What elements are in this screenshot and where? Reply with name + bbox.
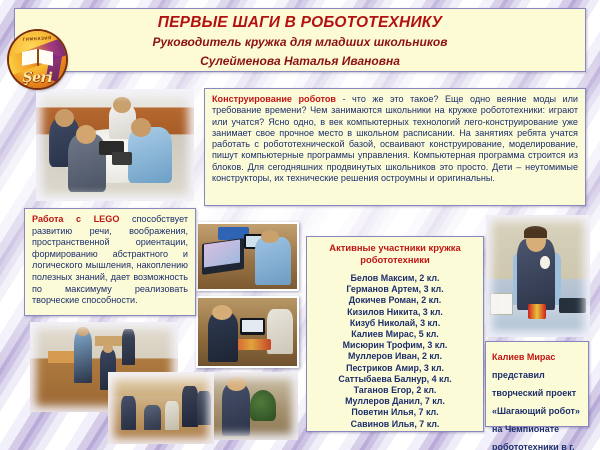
kaliev-note-panel: Калиев Мирас представил творческий проек… xyxy=(485,341,589,427)
photo-person-e xyxy=(197,391,211,426)
photo-person-1 xyxy=(74,331,92,383)
kaliev-name: Калиев Мирас xyxy=(492,352,555,362)
photo-boy-head xyxy=(227,377,246,391)
kaliev-text: представил творческий проект «Шагающий р… xyxy=(492,370,580,450)
photo-person-d xyxy=(182,386,198,426)
page-title: ПЕРВЫЕ ШАГИ В РОБОТОТЕХНИКУ xyxy=(15,13,585,33)
photo-table-left xyxy=(48,351,78,364)
poster-header: ПЕРВЫЕ ШАГИ В РОБОТОТЕХНИКУ Руководитель… xyxy=(14,8,586,72)
list-item: Германов Артем, 3 кл. xyxy=(311,284,479,295)
list-item: Муллеров Иван, 2 кл. xyxy=(311,351,479,362)
participants-panel: Активные участники кружка робототехники … xyxy=(306,236,484,432)
photo-boy xyxy=(208,313,238,362)
intro-text-panel: Конструирование роботов - что же это так… xyxy=(204,88,586,206)
list-item: Поветин Илья, 7 кл. xyxy=(311,407,479,418)
photo-child-2-head xyxy=(76,125,97,144)
photo-boy-with-lego-kit xyxy=(196,296,299,368)
list-item: Пестриков Амир, 3 кл. xyxy=(311,363,479,374)
intro-paragraph: Конструирование роботов - что же это так… xyxy=(212,94,578,184)
list-item: Мисюрин Трофим, 3 кл. xyxy=(311,340,479,351)
photo-child-3-head xyxy=(113,97,130,113)
list-item: Калиев Мирас, 5 кл. xyxy=(311,329,479,340)
photo-boy-head xyxy=(261,230,279,243)
participants-heading: Активные участники кружка робототехники xyxy=(311,242,479,266)
photo-group-of-students xyxy=(108,372,214,444)
photo-certificate xyxy=(490,293,513,315)
lego-body: способствует развитию речи, воображения,… xyxy=(32,214,188,305)
photo-boy xyxy=(222,384,250,436)
list-item: Саттыбаева Балнур, 4 кл. xyxy=(311,374,479,385)
participants-heading-line2: робототехники xyxy=(311,254,479,266)
photo-child-4 xyxy=(128,127,172,183)
lego-lead: Работа с LEGO xyxy=(32,214,119,224)
list-item: Муллеров Данил, 7 кл. xyxy=(311,396,479,407)
photo-child-1-head xyxy=(55,109,74,127)
photo-dark-object xyxy=(559,298,586,313)
list-item: Кизилов Никита, 3 кл. xyxy=(311,307,479,318)
photo-kaliev-miras-award xyxy=(486,215,590,337)
header-subtitle-role: Руководитель кружка для младших школьник… xyxy=(15,33,585,52)
photo-medal xyxy=(528,304,547,319)
list-item: Белов Максим, 2 кл. xyxy=(311,273,479,284)
intro-lead: Конструирование роботов xyxy=(212,94,336,104)
photo-students-building-robot xyxy=(36,89,194,201)
photo-lego-kit xyxy=(232,339,272,350)
photo-person-2-head xyxy=(103,344,113,353)
emblem-word: Şeri xyxy=(9,70,66,86)
participants-list: Белов Максим, 2 кл.Германов Артем, 3 кл.… xyxy=(311,273,479,430)
photo-plant xyxy=(250,390,276,421)
photo-boy-hair xyxy=(524,226,547,238)
participants-heading-line1: Активные участники кружка xyxy=(311,242,479,254)
emblem-book-spine xyxy=(37,49,39,66)
photo-second-student xyxy=(267,309,293,354)
photo-person-c xyxy=(165,401,179,430)
intro-body: - что же это такое? Еще одно веяние моды… xyxy=(212,94,578,183)
photo-boy-with-laptop xyxy=(196,222,299,291)
photo-person-b xyxy=(144,405,161,429)
list-item: Таганов Егор, 2 кл. xyxy=(311,385,479,396)
school-emblem-icon: ГИМНАЗИЯ Şeri xyxy=(9,31,66,88)
lego-text-panel: Работа с LEGO способствует развитию речи… xyxy=(24,208,196,316)
photo-person-3 xyxy=(122,329,135,365)
photo-boy xyxy=(255,237,291,285)
list-item: Кизуб Николай, 3 кл. xyxy=(311,318,479,329)
list-item: Савинов Илья, 7 кл. xyxy=(311,419,479,430)
lego-paragraph: Работа с LEGO способствует развитию речи… xyxy=(32,214,188,307)
header-subtitle-name: Сулейменова Наталья Ивановна xyxy=(15,52,585,71)
photo-robot-2 xyxy=(112,152,133,165)
list-item: Докичев Роман, 2 кл. xyxy=(311,295,479,306)
photo-person-a xyxy=(121,396,136,429)
photo-tablet-screen xyxy=(242,320,264,332)
poster-background: ПЕРВЫЕ ШАГИ В РОБОТОТЕХНИКУ Руководитель… xyxy=(0,0,600,450)
